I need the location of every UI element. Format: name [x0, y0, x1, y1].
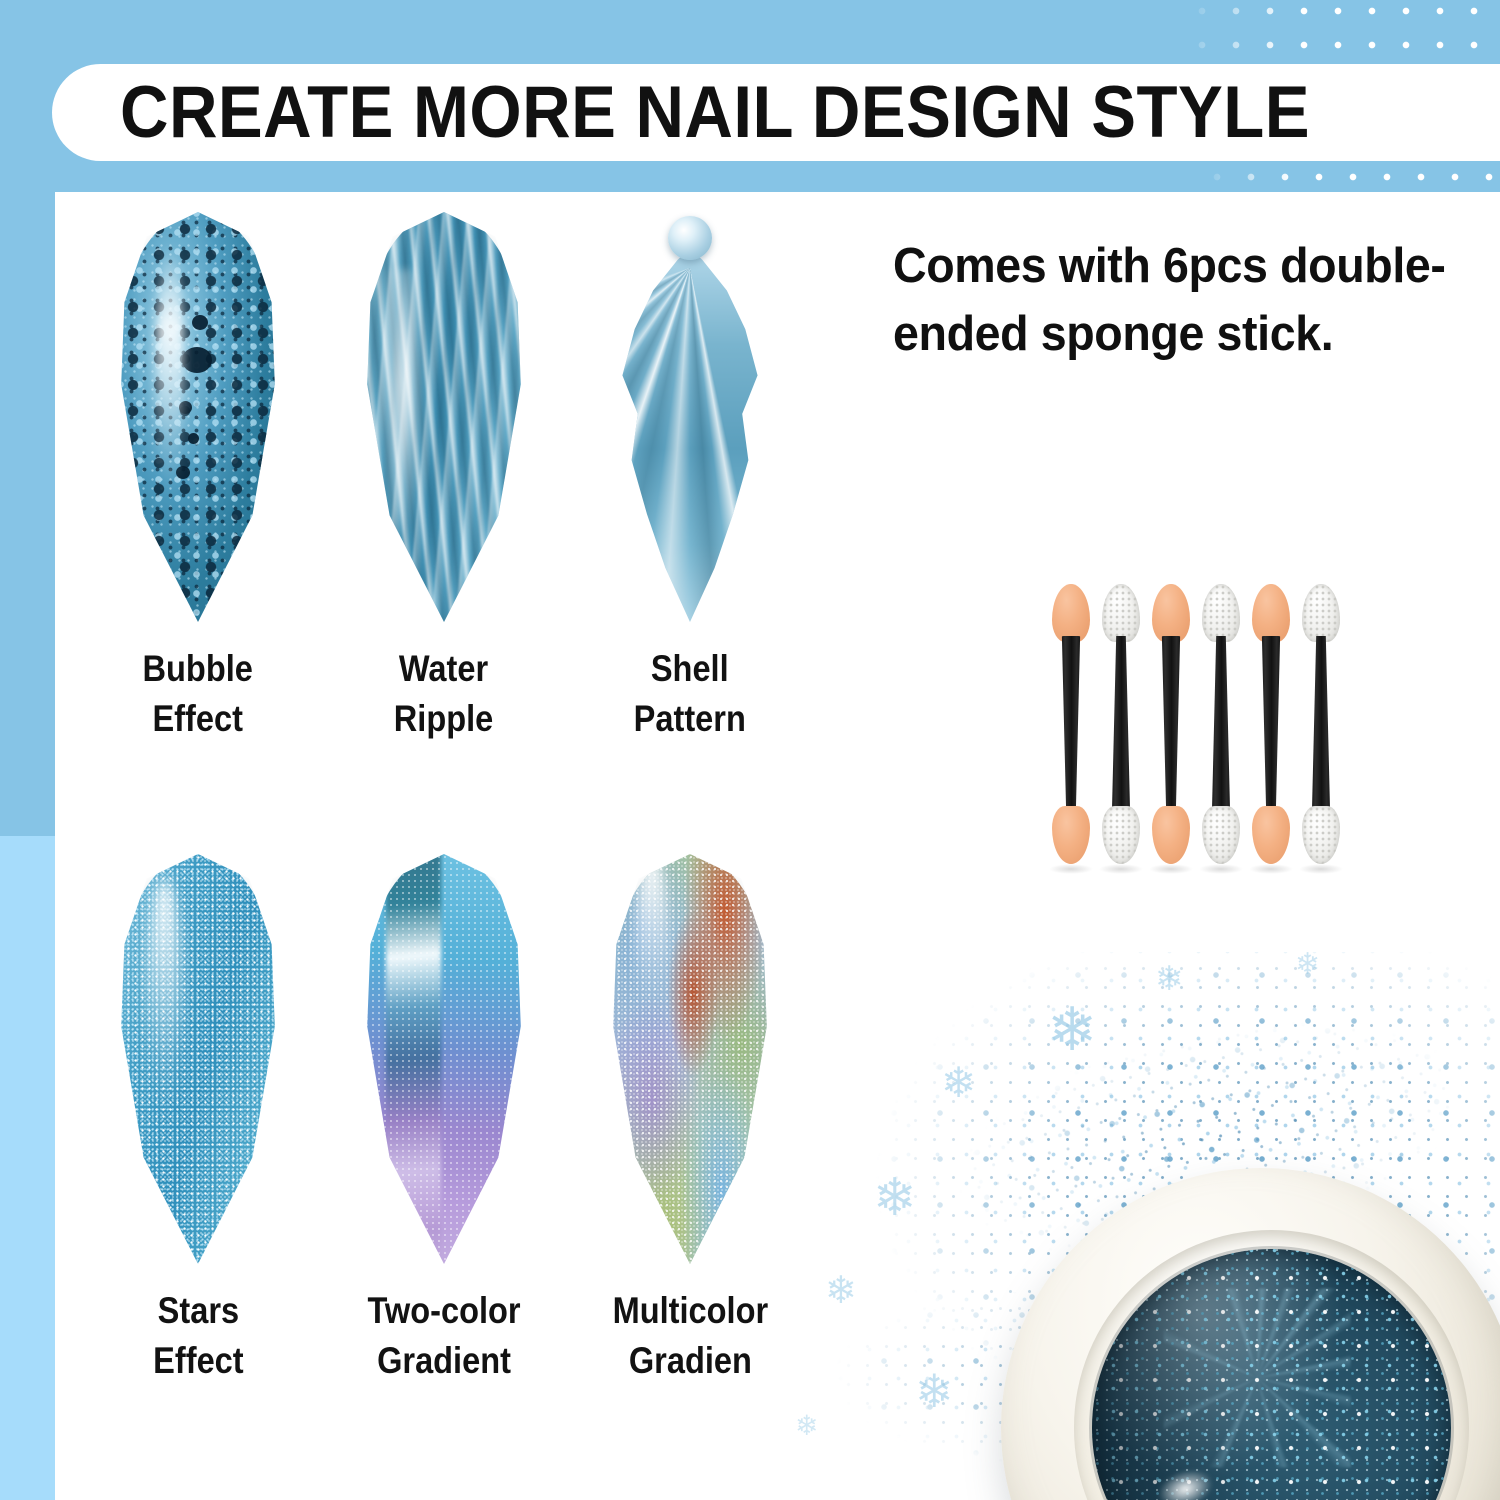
product-jar-scene: ❄ ❄ ❄ ❄ ❄ ❄ ❄ ❄ ❄ ❄ — [755, 772, 1500, 1500]
nail-label-line2: Pattern — [634, 698, 746, 739]
accessory-description: Comes with 6pcs double- ended sponge sti… — [893, 232, 1463, 368]
sponge-tip-orange — [1252, 584, 1290, 642]
nail-label-stars-effect: Stars Effect — [153, 1286, 243, 1386]
snowflake-icon: ❄ — [1047, 1000, 1097, 1060]
nail-label-two-color-gradient: Two-color Gradient — [367, 1286, 520, 1386]
snowflake-icon: ❄ — [825, 1272, 857, 1310]
snowflake-icon: ❄ — [1155, 962, 1184, 996]
title-banner: CREATE MORE NAIL DESIGN STYLE — [52, 64, 1500, 161]
nail-art-bubble-effect — [118, 212, 278, 622]
nail-swatch-shell-pattern[interactable]: Shell Pattern — [567, 212, 813, 744]
nail-label-water-ripple: Water Ripple — [394, 644, 493, 744]
nail-label-line2: Gradient — [377, 1340, 511, 1381]
nail-art-shell-pattern — [610, 212, 770, 622]
snowflake-icon: ❄ — [873, 1172, 917, 1224]
pearl-accent-icon — [668, 216, 712, 260]
nail-art-two-color-gradient — [364, 854, 524, 1264]
content-panel: Bubble Effect Wate — [55, 192, 1500, 1500]
infographic-canvas: CREATE MORE NAIL DESIGN STYLE — [0, 0, 1500, 1500]
nail-swatch-two-color-gradient[interactable]: Two-color Gradient — [321, 854, 567, 1386]
nail-label-bubble-effect: Bubble Effect — [143, 644, 253, 744]
nail-label-line1: Shell — [651, 648, 729, 689]
nail-swatch-stars-effect[interactable]: Stars Effect — [75, 854, 321, 1386]
nail-design-grid: Bubble Effect Wate — [75, 212, 815, 1386]
sponge-tip-white — [1202, 584, 1240, 642]
nail-row-bottom: Stars Effect Two-color — [75, 854, 815, 1386]
sponge-tip-white — [1102, 584, 1140, 642]
accessory-description-line1: Comes with 6pcs double- — [893, 232, 1463, 300]
polka-dot-pattern-bottom — [1200, 160, 1500, 196]
nail-label-line1: Multicolor — [612, 1290, 768, 1331]
nail-label-line1: Bubble — [143, 648, 253, 689]
page-title: CREATE MORE NAIL DESIGN STYLE — [120, 76, 1310, 149]
nail-swatch-water-ripple[interactable]: Water Ripple — [321, 212, 567, 744]
nail-art-multicolor-gradien — [610, 854, 770, 1264]
snowflake-icon: ❄ — [941, 1062, 976, 1104]
nail-art-stars-effect — [118, 854, 278, 1264]
nail-label-line2: Effect — [153, 698, 243, 739]
nail-label-line1: Water — [399, 648, 488, 689]
sponge-tip-orange — [1052, 584, 1090, 642]
nail-label-line1: Stars — [157, 1290, 238, 1331]
nail-art-water-ripple — [364, 212, 524, 622]
nail-label-shell-pattern: Shell Pattern — [634, 644, 746, 744]
nail-label-line1: Two-color — [367, 1290, 520, 1331]
sponge-tip-white — [1302, 584, 1340, 642]
nail-label-line2: Gradien — [628, 1340, 751, 1381]
sponge-tip-orange — [1152, 584, 1190, 642]
jar-powder-well — [1092, 1249, 1451, 1500]
snowflake-icon: ❄ — [1295, 950, 1320, 980]
nail-row-top: Bubble Effect Wate — [75, 212, 815, 744]
nail-label-multicolor-gradien: Multicolor Gradien — [612, 1286, 768, 1386]
nail-label-line2: Effect — [153, 1340, 243, 1381]
accessory-description-line2: ended sponge stick. — [893, 300, 1463, 368]
nail-swatch-bubble-effect[interactable]: Bubble Effect — [75, 212, 321, 744]
nail-label-line2: Ripple — [394, 698, 493, 739]
glitter-powder-jar[interactable] — [1001, 1168, 1500, 1500]
snowflake-icon: ❄ — [915, 1368, 954, 1414]
snowflake-icon: ❄ — [795, 1412, 818, 1440]
